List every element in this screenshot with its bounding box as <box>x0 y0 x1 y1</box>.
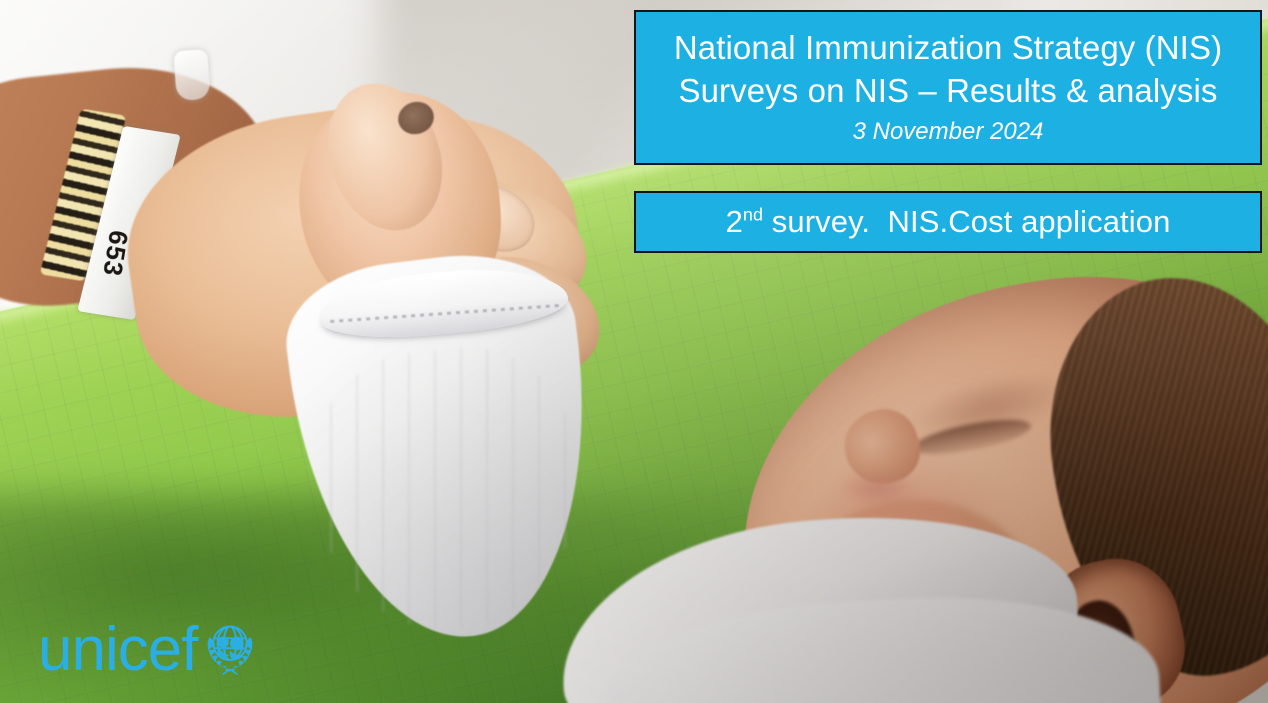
bracelet-clasp <box>173 49 210 101</box>
subtitle-banner: 2nd survey. NIS.Cost application <box>634 191 1262 253</box>
unicef-globe-emblem <box>199 616 261 683</box>
presentation-date: 3 November 2024 <box>853 114 1044 150</box>
baby-lips <box>840 472 916 506</box>
subtitle-text: 2nd survey. NIS.Cost application <box>726 204 1171 240</box>
subtitle-rest: survey. NIS.Cost application <box>763 204 1170 239</box>
unicef-logo: unicef <box>38 616 261 683</box>
title-line-1: National Immunization Strategy (NIS) <box>674 27 1222 69</box>
subtitle-ordinal-suffix: nd <box>743 205 763 225</box>
title-line-2: Surveys on NIS – Results & analysis <box>678 70 1217 112</box>
title-banner: National Immunization Strategy (NIS) Sur… <box>634 10 1262 165</box>
slide-canvas: 653 unicef <box>0 0 1268 703</box>
subtitle-ordinal-number: 2 <box>726 204 743 239</box>
unicef-wordmark: unicef <box>38 619 197 681</box>
